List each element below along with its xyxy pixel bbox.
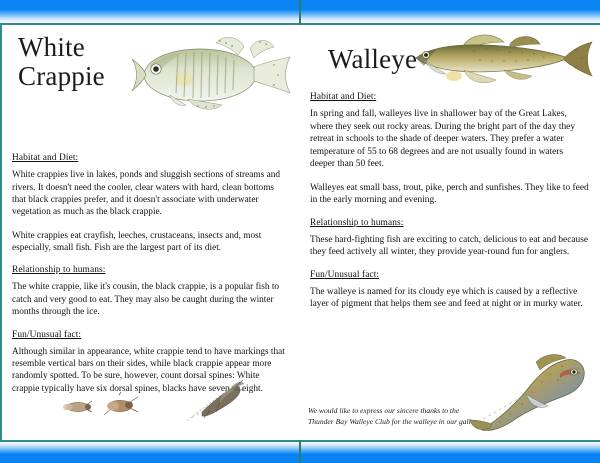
paragraph-walleye-habitat-1: In spring and fall, walleyes live in sha… [310,108,590,171]
mayfly-illustration-2 [100,392,140,418]
paragraph-crappie-habitat-1: White crappies live in lakes, ponds and … [12,169,286,218]
paragraph-crappie-funfact-1: Although similar in appearance, white cr… [12,346,286,395]
section-heading-relationship-walleye: Relationship to humans: [310,218,590,228]
paragraph-crappie-relationship-1: The white crappie, like it's cousin, the… [12,281,286,318]
page-root: White Crappie Habitat and Diet: White cr… [0,0,600,463]
section-heading-habitat-diet-crappie: Habitat and Diet: [12,153,286,163]
section-heading-relationship-crappie: Relationship to humans: [12,265,286,275]
bottom-center-divider [299,440,301,463]
section-heading-fun-fact-crappie: Fun/Unusual fact: [12,330,286,340]
walleye-illustration [404,18,594,98]
paragraph-walleye-relationship-1: These hard-fighting fish are exciting to… [310,234,590,259]
paragraph-crappie-habitat-2: White crappies eat crayfish, leeches, cr… [12,230,286,255]
leaping-walleye-illustration [470,352,592,432]
top-center-divider [299,0,301,25]
stonefly-illustration-3 [186,378,244,422]
mayfly-illustration-1 [58,396,92,418]
paragraph-walleye-habitat-2: Walleyes eat small bass, trout, pike, pe… [310,182,590,207]
paragraph-walleye-funfact-1: The walleye is named for its cloudy eye … [310,286,590,311]
white-crappie-illustration [128,27,293,122]
section-heading-fun-fact-walleye: Fun/Unusual fact: [310,270,590,280]
